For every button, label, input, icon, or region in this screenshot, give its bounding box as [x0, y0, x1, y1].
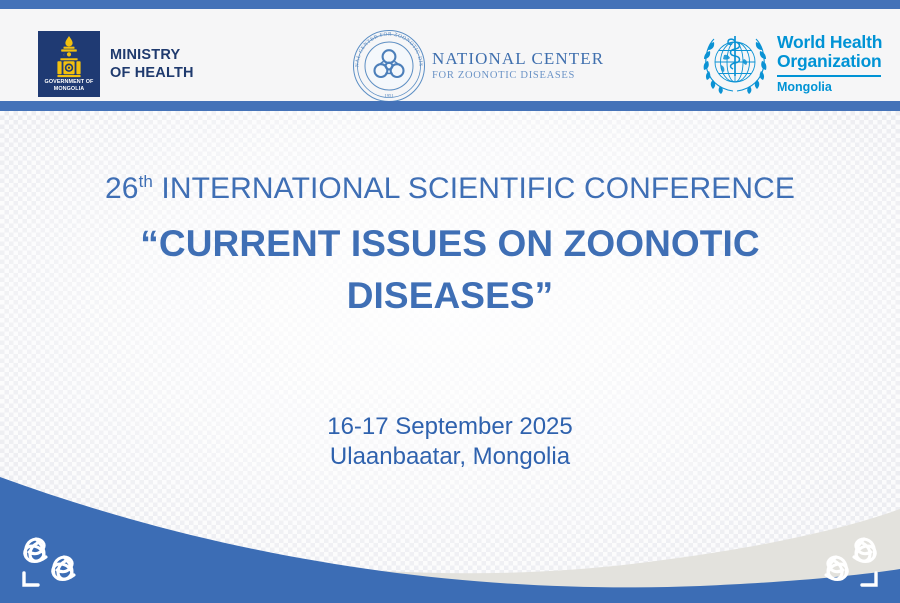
bottom-wave-decoration	[0, 443, 900, 603]
conference-theme-title: “CURRENT ISSUES ON ZOONOTIC DISEASES”	[0, 218, 900, 322]
conference-ordinal-suffix: th	[139, 172, 153, 191]
soyombo-emblem-icon: GOVERNMENT OF MONGOLIA	[38, 31, 100, 97]
conference-heading-text: INTERNATIONAL SCIENTIFIC CONFERENCE	[153, 172, 795, 205]
conference-title-slide: GOVERNMENT OF MONGOLIA MINISTRY OF HEALT…	[0, 0, 900, 603]
who-underline-rule	[777, 75, 881, 77]
ministry-emblem-caption-line2: MONGOLIA	[54, 86, 84, 92]
title-block: 26th INTERNATIONAL SCIENTIFIC CONFERENCE…	[0, 170, 900, 322]
svg-text:1951: 1951	[384, 93, 394, 98]
national-center-logo: NATIONAL CENTER FOR ZOONOTIC DISEASES 19…	[352, 29, 604, 103]
triquetra-knot-pair-icon	[808, 531, 884, 593]
who-organization-name: World Health Organization	[777, 33, 882, 71]
biohazard-seal-icon: NATIONAL CENTER FOR ZOONOTIC DISEASES 19…	[352, 29, 426, 103]
header-logo-band: GOVERNMENT OF MONGOLIA MINISTRY OF HEALT…	[0, 9, 900, 101]
conference-heading: 26th INTERNATIONAL SCIENTIFIC CONFERENCE	[0, 170, 900, 208]
triquetra-knot-pair-icon	[16, 531, 92, 593]
who-country-label: Mongolia	[777, 80, 882, 94]
triquetra-knot-right	[808, 531, 884, 593]
ministry-emblem-caption-line1: GOVERNMENT OF	[45, 79, 94, 85]
top-accent-bar	[0, 0, 900, 9]
ministry-of-health-logo: GOVERNMENT OF MONGOLIA MINISTRY OF HEALT…	[38, 31, 194, 97]
header-separator-bar	[0, 101, 900, 111]
who-logo: World Health Organization Mongolia	[700, 29, 882, 95]
who-globe-laurel-asclepius-icon	[700, 29, 770, 95]
national-center-name-line1: NATIONAL CENTER	[432, 49, 604, 69]
event-date: 16-17 September 2025	[0, 412, 900, 442]
bottom-accent-bar	[0, 599, 900, 603]
national-center-name-line2: FOR ZOONOTIC DISEASES	[432, 69, 604, 83]
conference-number: 26	[105, 172, 139, 205]
triquetra-knot-left	[16, 531, 92, 593]
ministry-of-health-name: MINISTRY OF HEALTH	[110, 46, 194, 82]
